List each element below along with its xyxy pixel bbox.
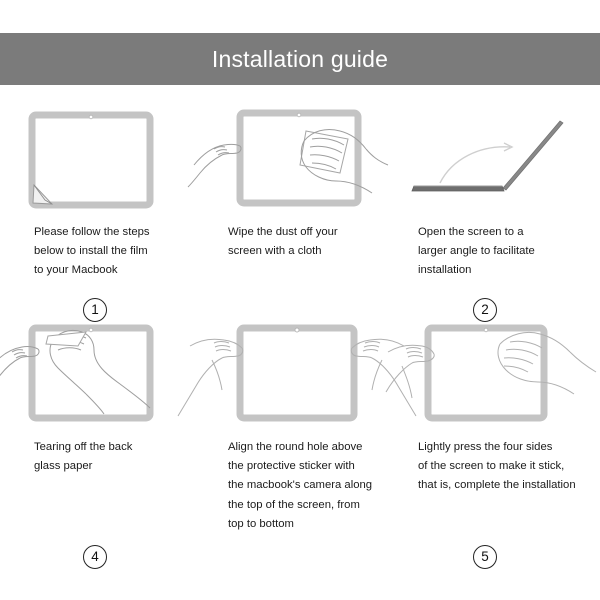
step-1-illustration xyxy=(0,103,200,215)
guide-header-bar: Installation guide xyxy=(0,33,600,85)
step-5-caption: Align the round hole above the protectiv… xyxy=(228,438,406,534)
step-4-caption: Tearing off the back glass paper xyxy=(34,438,204,476)
installation-guide-page: Installation guide Please follow the ste… xyxy=(0,0,600,600)
step-3: Open the screen to a larger angle to fac… xyxy=(400,103,600,338)
step-4: Tearing off the back glass paper 4 xyxy=(0,320,200,600)
step-5-illustration xyxy=(200,320,400,432)
step-6: Lightly press the four sides of the scre… xyxy=(400,320,600,600)
step-2-caption: Wipe the dust off your screen with a clo… xyxy=(228,223,406,261)
align-film-camera-hole-icon xyxy=(200,320,400,432)
peel-backing-paper-icon xyxy=(0,320,200,432)
step-4-illustration xyxy=(0,320,200,432)
step-1-caption: Please follow the steps below to install… xyxy=(34,223,204,281)
step-4-number: 4 xyxy=(83,545,107,569)
step-6-illustration xyxy=(400,320,600,432)
press-film-edges-icon xyxy=(400,320,600,432)
step-6-caption: Lightly press the four sides of the scre… xyxy=(418,438,600,496)
step-1: Please follow the steps below to install… xyxy=(0,103,200,338)
step-3-illustration xyxy=(400,103,600,215)
page-title: Installation guide xyxy=(212,48,388,71)
step-2-illustration xyxy=(200,103,400,215)
steps-grid: Please follow the steps below to install… xyxy=(0,85,600,600)
step-5: Align the round hole above the protectiv… xyxy=(200,320,400,600)
laptop-open-angle-icon xyxy=(400,103,600,215)
step-2: Wipe the dust off your screen with a clo… xyxy=(200,103,400,338)
hand-cloth-wipe-icon xyxy=(200,103,400,215)
step-3-caption: Open the screen to a larger angle to fac… xyxy=(418,223,600,281)
step-1-number: 1 xyxy=(83,298,107,322)
macbook-screen-film-icon xyxy=(0,103,200,215)
